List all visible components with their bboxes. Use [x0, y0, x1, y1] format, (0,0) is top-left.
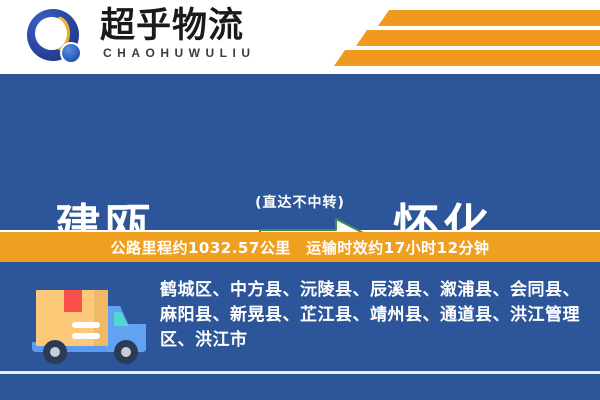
stripe-1 [378, 10, 600, 26]
banner-header: 超乎物流 CHAOHUWULIU [0, 0, 600, 72]
delivery-truck-icon [28, 278, 150, 366]
company-name-chinese: 超乎物流 [100, 6, 244, 46]
bottom-divider [0, 371, 600, 374]
logistics-route-banner: 超乎物流 CHAOHUWULIU 建瓯 (直达不中转) 【往返运输】 怀化 公路… [0, 0, 600, 400]
direct-shipping-note: (直达不中转) [0, 192, 600, 212]
coverage-region-list: 鹤城区、中方县、沅陵县、辰溪县、溆浦县、会同县、麻阳县、新晃县、芷江县、靖州县、… [160, 278, 590, 353]
stripe-3 [334, 50, 600, 66]
route-metrics-bar: 公路里程约1032.57公里 运输时效约17小时12分钟 [0, 232, 600, 262]
stripe-2 [356, 30, 600, 46]
coverage-area-section: 鹤城区、中方县、沅陵县、辰溪县、溆浦县、会同县、麻阳县、新晃县、芷江县、靖州县、… [0, 262, 600, 400]
orange-stripes-decoration [330, 6, 600, 68]
company-name-pinyin: CHAOHUWULIU [103, 46, 256, 60]
route-panel: 建瓯 (直达不中转) 【往返运输】 怀化 [0, 74, 600, 230]
circle-crescent-logo-icon [27, 9, 89, 64]
logo-accent-dot [60, 42, 82, 64]
route-metrics-text: 公路里程约1032.57公里 运输时效约17小时12分钟 [110, 237, 489, 258]
